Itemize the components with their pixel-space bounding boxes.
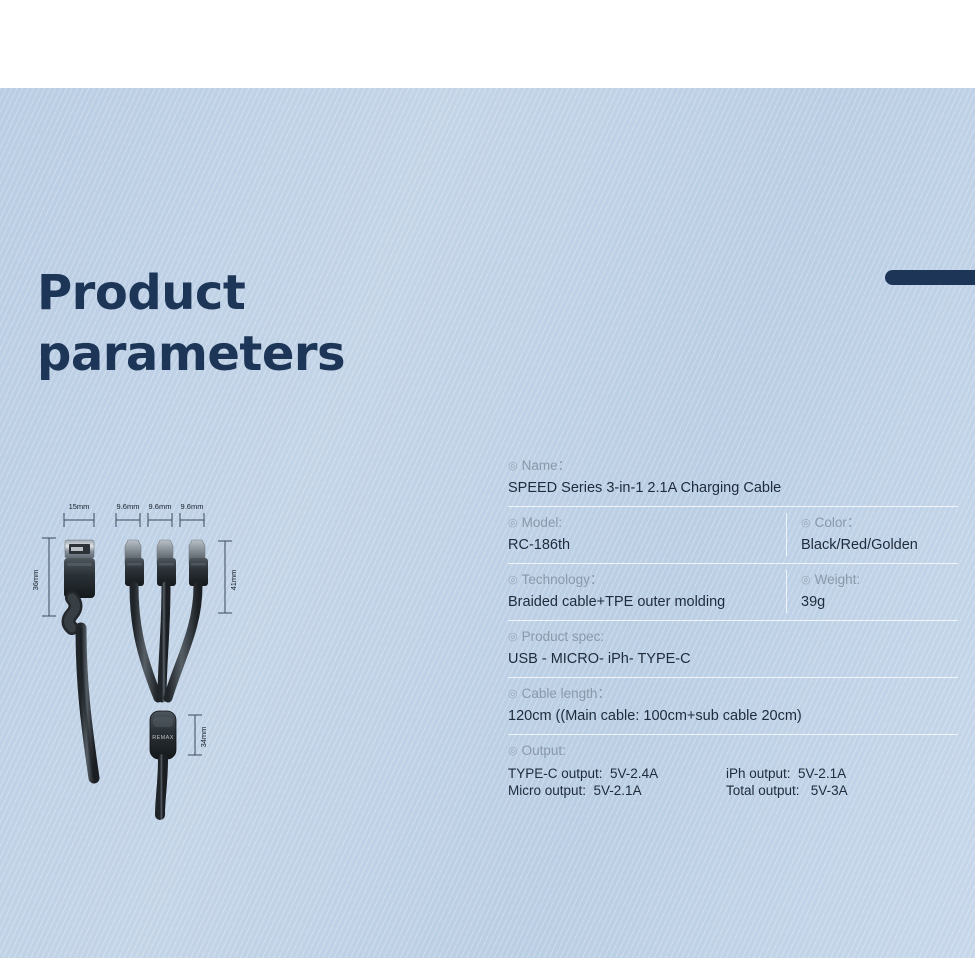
bullet-icon: ◎ bbox=[508, 570, 518, 590]
spec-label-model: ◎Model: bbox=[508, 513, 776, 534]
dim-label-splitter-length: 34mm bbox=[199, 727, 208, 748]
spec-label-cable-length: ◎Cable length： bbox=[508, 684, 958, 705]
spec-label-name: ◎Name： bbox=[508, 456, 958, 477]
spec-label-product-spec-text: Product spec: bbox=[522, 629, 605, 644]
sub-cable-3 bbox=[168, 586, 198, 698]
output-typec: TYPE-C output: 5V-2.4A bbox=[508, 765, 726, 782]
bullet-icon: ◎ bbox=[508, 627, 518, 647]
bullet-icon: ◎ bbox=[801, 570, 811, 590]
spec-row-technology-weight: ◎Technology： Braided cable+TPE outer mol… bbox=[508, 564, 958, 621]
spec-label-technology: ◎Technology： bbox=[508, 570, 776, 591]
output-iph: iPh output: 5V-2.1A bbox=[726, 765, 944, 782]
spec-label-output-text: Output: bbox=[522, 743, 566, 758]
spec-row-output: ◎Output: TYPE-C output: 5V-2.4A iPh outp… bbox=[508, 735, 958, 806]
connector-tip-2 bbox=[157, 540, 176, 586]
blue-background-panel: Product parameters bbox=[0, 88, 975, 958]
dim-label-tips-length: 41mm bbox=[229, 570, 238, 591]
bullet-icon: ◎ bbox=[508, 741, 518, 761]
output-total: Total output: 5V-3A bbox=[726, 782, 944, 799]
spec-cell-color: ◎Color： Black/Red/Golden bbox=[786, 513, 958, 556]
spec-row-model-color: ◎Model: RC-186th ◎Color： Black/Red/Golde… bbox=[508, 507, 958, 564]
dim-label-tip-2: 9.6mm bbox=[149, 502, 172, 511]
spec-row-product-spec: ◎Product spec: USB - MICRO- iPh- TYPE-C bbox=[508, 621, 958, 678]
page-title-line-2: parameters bbox=[37, 324, 345, 385]
spec-label-weight-text: Weight: bbox=[815, 572, 861, 587]
bullet-icon: ◎ bbox=[508, 684, 518, 704]
spec-value-model: RC-186th bbox=[508, 534, 776, 556]
spec-label-technology-text: Technology： bbox=[522, 572, 604, 587]
spec-row-name: ◎Name： SPEED Series 3-in-1 2.1A Charging… bbox=[508, 450, 958, 507]
bullet-icon: ◎ bbox=[508, 513, 518, 533]
brand-mark: REMAX bbox=[152, 735, 174, 741]
spec-value-weight: 39g bbox=[801, 591, 958, 613]
spec-label-cable-length-text: Cable length： bbox=[522, 686, 611, 701]
output-line-1: TYPE-C output: 5V-2.4A iPh output: 5V-2.… bbox=[508, 765, 958, 782]
page-title-line-1: Product bbox=[37, 263, 345, 324]
bullet-icon: ◎ bbox=[508, 456, 518, 476]
spec-value-cable-length: 120cm ((Main cable: 100cm+sub cable 20cm… bbox=[508, 705, 958, 727]
spec-value-name: SPEED Series 3-in-1 2.1A Charging Cable bbox=[508, 477, 958, 499]
spec-label-model-text: Model: bbox=[522, 515, 563, 530]
usb-a-connector bbox=[64, 540, 95, 628]
spec-cell-weight: ◎Weight: 39g bbox=[786, 570, 958, 613]
spec-table: ◎Name： SPEED Series 3-in-1 2.1A Charging… bbox=[508, 450, 958, 806]
spec-label-name-text: Name： bbox=[522, 458, 572, 473]
splitter-housing: REMAX bbox=[150, 711, 176, 759]
connector-tip-3 bbox=[189, 540, 208, 586]
lower-cable bbox=[160, 759, 163, 815]
spec-label-output: ◎Output: bbox=[508, 741, 958, 762]
spec-value-output: TYPE-C output: 5V-2.4A iPh output: 5V-2.… bbox=[508, 765, 958, 799]
output-micro: Micro output: 5V-2.1A bbox=[508, 782, 726, 799]
dim-label-usb-width: 15mm bbox=[69, 502, 90, 511]
connector-tip-1 bbox=[125, 540, 144, 586]
accent-bar bbox=[885, 270, 975, 285]
dim-label-usb-length: 36mm bbox=[31, 570, 40, 591]
page-title: Product parameters bbox=[37, 263, 345, 386]
bullet-icon: ◎ bbox=[801, 513, 811, 533]
output-line-2: Micro output: 5V-2.1A Total output: 5V-3… bbox=[508, 782, 958, 799]
spec-cell-technology: ◎Technology： Braided cable+TPE outer mol… bbox=[508, 570, 786, 613]
spec-value-color: Black/Red/Golden bbox=[801, 534, 958, 556]
spec-value-technology: Braided cable+TPE outer molding bbox=[508, 591, 776, 613]
spec-row-cable-length: ◎Cable length： 120cm ((Main cable: 100cm… bbox=[508, 678, 958, 735]
product-illustration: 15mm 9.6mm 9.6mm bbox=[20, 483, 470, 843]
sub-cable-1 bbox=[134, 586, 158, 698]
spec-value-product-spec: USB - MICRO- iPh- TYPE-C bbox=[508, 648, 958, 670]
sub-cable-2 bbox=[162, 586, 166, 698]
product-parameters-page: Product parameters bbox=[0, 0, 975, 975]
spec-label-color-text: Color： bbox=[815, 515, 861, 530]
spec-label-product-spec: ◎Product spec: bbox=[508, 627, 958, 648]
spec-cell-model: ◎Model: RC-186th bbox=[508, 513, 786, 556]
dim-label-tip-3: 9.6mm bbox=[181, 502, 204, 511]
dim-label-tip-1: 9.6mm bbox=[117, 502, 140, 511]
spec-label-weight: ◎Weight: bbox=[801, 570, 958, 591]
spec-label-color: ◎Color： bbox=[801, 513, 958, 534]
